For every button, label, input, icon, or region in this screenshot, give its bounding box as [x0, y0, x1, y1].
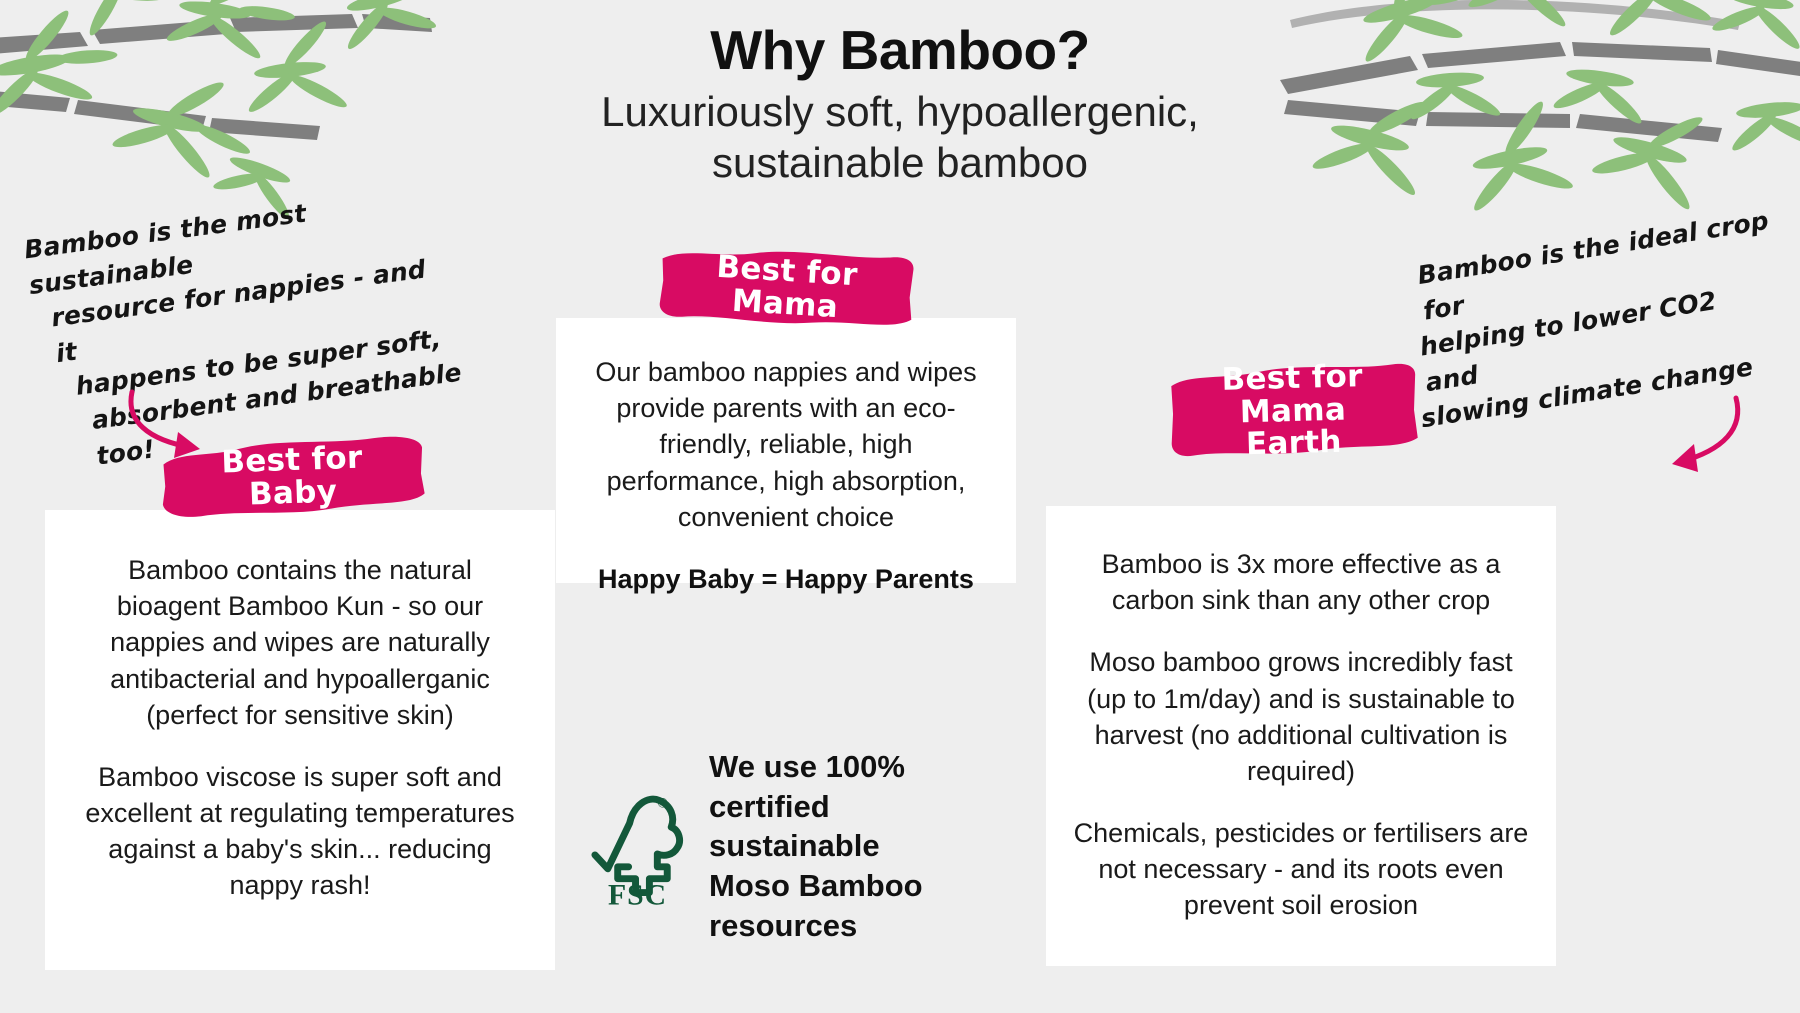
- fsc-wordmark: FSC: [608, 879, 667, 909]
- arrow-right: [1640, 392, 1750, 482]
- annotation-right: Bamboo is the ideal crop for helping to …: [1418, 202, 1800, 434]
- page-subtitle-line-1: Luxuriously soft, hypoallergenic,: [0, 86, 1800, 137]
- fsc-text-line-4: resources: [709, 906, 1006, 946]
- fsc-certification-block: ® FSC We use 100% certified sustainable …: [586, 766, 1006, 926]
- page-header: Why Bamboo? Luxuriously soft, hypoallerg…: [0, 22, 1800, 188]
- card-right-paragraph-2: Moso bamboo grows incredibly fast (up to…: [1072, 644, 1530, 789]
- fsc-text-line-2: certified sustainable: [709, 787, 1006, 866]
- badge-best-for-mama-earth[interactable]: Best for Mama Earth: [1167, 362, 1419, 461]
- card-right-paragraph-1: Bamboo is 3x more effective as a carbon …: [1072, 546, 1530, 618]
- page-title: Why Bamboo?: [0, 22, 1800, 80]
- card-middle-paragraph-1: Our bamboo nappies and wipes provide par…: [578, 354, 994, 535]
- fsc-text-line-1: We use 100%: [709, 747, 1006, 787]
- card-best-for-mama-earth: Bamboo is 3x more effective as a carbon …: [1046, 506, 1556, 966]
- card-middle-bold-line: Happy Baby = Happy Parents: [578, 561, 994, 597]
- card-left-paragraph-2: Bamboo viscose is super soft and excelle…: [75, 759, 525, 904]
- infographic-canvas: Why Bamboo? Luxuriously soft, hypoallerg…: [0, 0, 1800, 1013]
- badge-right-label-line-2: Mama Earth: [1239, 391, 1346, 462]
- card-right-paragraph-3: Chemicals, pesticides or fertilisers are…: [1072, 815, 1530, 924]
- page-subtitle-line-2: sustainable bamboo: [0, 137, 1800, 188]
- fsc-registered-mark: ®: [657, 795, 668, 810]
- card-body-middle: Our bamboo nappies and wipes provide par…: [556, 318, 1016, 597]
- card-best-for-baby: Bamboo contains the natural bioagent Bam…: [45, 510, 555, 970]
- badge-best-for-baby[interactable]: Best for Baby: [159, 433, 427, 520]
- page-subtitle: Luxuriously soft, hypoallergenic, sustai…: [0, 86, 1800, 188]
- card-body-right: Bamboo is 3x more effective as a carbon …: [1046, 506, 1556, 924]
- fsc-logo-icon: ® FSC: [586, 783, 689, 909]
- fsc-text-line-3: Moso Bamboo: [709, 866, 1006, 906]
- badge-left-label: Best for Baby: [159, 440, 426, 515]
- badge-right-label: Best for Mama Earth: [1167, 358, 1419, 463]
- card-body-left: Bamboo contains the natural bioagent Bam…: [45, 510, 555, 904]
- card-left-paragraph-1: Bamboo contains the natural bioagent Bam…: [75, 552, 525, 733]
- fsc-text: We use 100% certified sustainable Moso B…: [709, 747, 1006, 945]
- card-best-for-mama: Our bamboo nappies and wipes provide par…: [556, 318, 1016, 583]
